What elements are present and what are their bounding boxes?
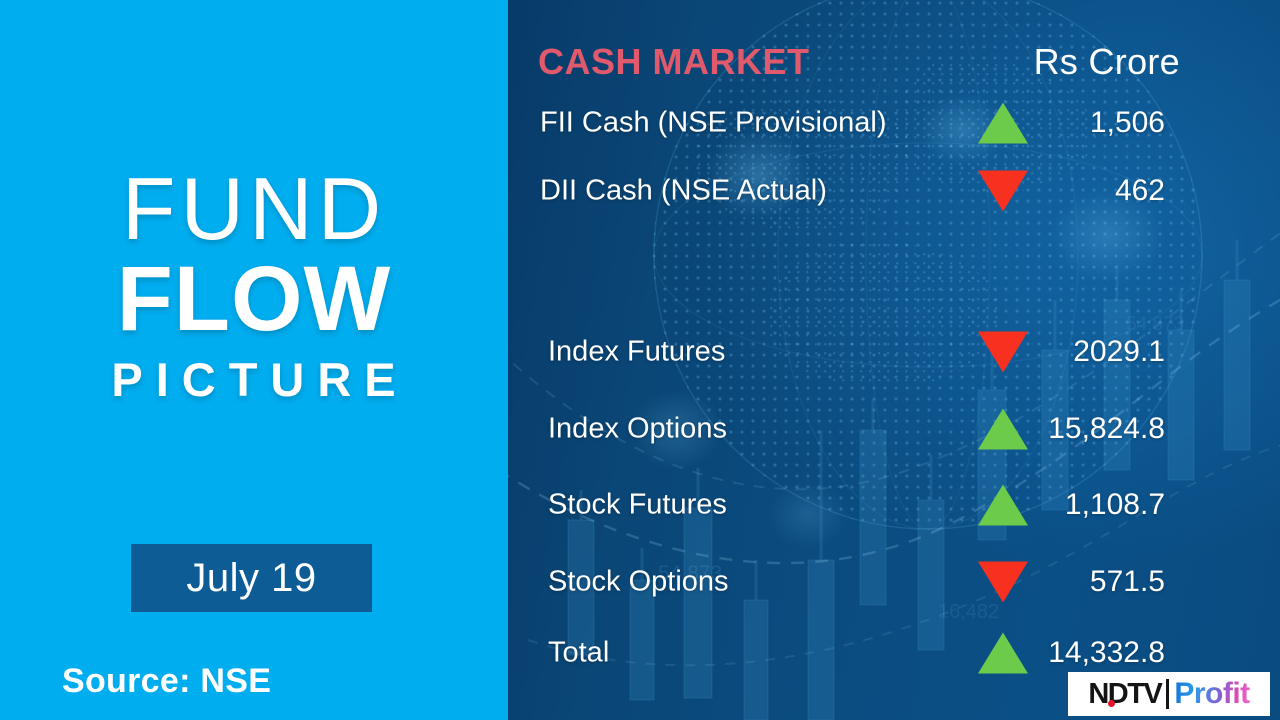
profit-wordmark: Profit: [1174, 677, 1249, 711]
fund-flow-graphic: FUND FLOW PICTURE July 19 Source: NSE: [0, 0, 1280, 720]
row-label-stock-futures: Stock Futures: [548, 489, 727, 522]
down-arrow-icon: [978, 562, 1028, 603]
data-panel: 54,873 16,482 54,873 CASH MARKET Rs Cror…: [508, 0, 1280, 720]
row-value-stock-options: 571.5: [1090, 565, 1165, 599]
row-value-index-options: 15,824.8: [1048, 412, 1165, 446]
up-arrow-icon: [978, 633, 1028, 674]
down-arrow-icon: [978, 332, 1028, 373]
title-line-fund: FUND: [0, 168, 508, 250]
title-line-picture: PICTURE: [0, 355, 508, 404]
section-title: CASH MARKET: [538, 41, 810, 83]
svg-text:16,482: 16,482: [938, 601, 999, 623]
row-label-index-futures: Index Futures: [548, 336, 725, 369]
date-badge-label: July 19: [186, 556, 316, 601]
date-badge: July 19: [131, 544, 372, 612]
unit-label: Rs Crore: [1034, 41, 1180, 83]
row-label-index-options: Index Options: [548, 413, 727, 446]
ndtv-profit-logo: NDTV Profit: [1068, 672, 1270, 716]
row-label-stock-options: Stock Options: [548, 566, 729, 599]
row-value-stock-futures: 1,108.7: [1065, 488, 1165, 522]
logo-divider: [1166, 679, 1169, 709]
down-arrow-icon: [978, 171, 1028, 212]
row-value-index-futures: 2029.1: [1073, 335, 1165, 369]
title-line-flow: FLOW: [0, 256, 508, 343]
row-value-total: 14,332.8: [1048, 636, 1165, 670]
ndtv-wordmark-text: NDTV: [1088, 678, 1161, 710]
svg-text:54,873: 54,873: [1126, 314, 1184, 335]
ndtv-wordmark: NDTV: [1088, 678, 1161, 711]
ndtv-red-dot-icon: [1108, 700, 1115, 707]
row-value-fii-cash: 1,506: [1090, 106, 1165, 140]
row-label-fii-cash: FII Cash (NSE Provisional): [540, 107, 887, 140]
up-arrow-icon: [978, 485, 1028, 526]
up-arrow-icon: [978, 103, 1028, 144]
row-value-dii-cash: 462: [1115, 174, 1165, 208]
graphic-title: FUND FLOW PICTURE: [0, 168, 508, 405]
source-label: Source: NSE: [62, 662, 271, 701]
row-label-total: Total: [548, 637, 609, 670]
left-branding-panel: FUND FLOW PICTURE July 19 Source: NSE: [0, 0, 508, 720]
up-arrow-icon: [978, 409, 1028, 450]
row-label-dii-cash: DII Cash (NSE Actual): [540, 175, 827, 208]
